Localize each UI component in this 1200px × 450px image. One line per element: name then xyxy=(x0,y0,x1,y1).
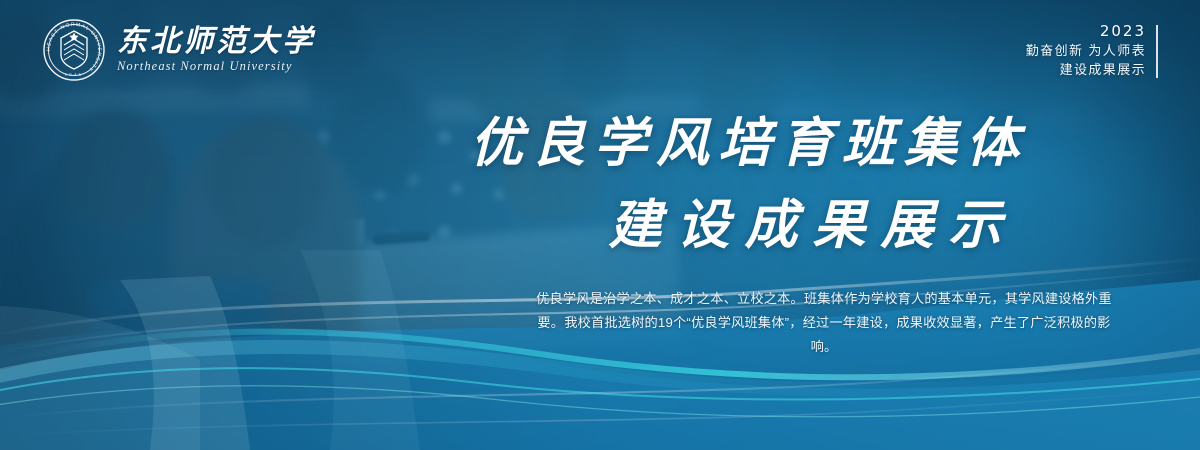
banner-meta-block: 2023 勤奋创新 为人师表 建设成果展示 xyxy=(1026,22,1158,79)
page-title-line-1: 优良学风培育班集体 xyxy=(470,112,1170,176)
university-name-en: Northeast Normal University xyxy=(117,59,315,74)
svg-text:1946: 1946 xyxy=(65,72,83,77)
banner-motto: 勤奋创新 为人师表 xyxy=(1026,41,1146,60)
university-logo-lockup: NORTHEAST NORMAL UNIVERSITY 1946 东北师范大学 … xyxy=(42,18,315,82)
banner-meta-subtitle: 建设成果展示 xyxy=(1026,60,1146,79)
banner-description: 优良学风是治学之本、成才之本、立校之本。班集体作为学校育人的基本单元，其学风建设… xyxy=(536,287,1112,359)
university-wordmark: 东北师范大学 Northeast Normal University xyxy=(117,26,315,74)
university-seal-icon: NORTHEAST NORMAL UNIVERSITY 1946 xyxy=(42,18,106,82)
banner-meta-lines: 2023 勤奋创新 为人师表 建设成果展示 xyxy=(1026,22,1146,79)
banner-year: 2023 xyxy=(1026,22,1146,41)
university-achievement-banner: 第三组 xyxy=(0,0,1200,450)
meta-divider-rule xyxy=(1156,25,1158,78)
university-name-cn: 东北师范大学 xyxy=(117,26,315,58)
page-title: 优良学风培育班集体 建设成果展示 xyxy=(470,112,1170,258)
page-title-line-2: 建设成果展示 xyxy=(470,194,1170,258)
